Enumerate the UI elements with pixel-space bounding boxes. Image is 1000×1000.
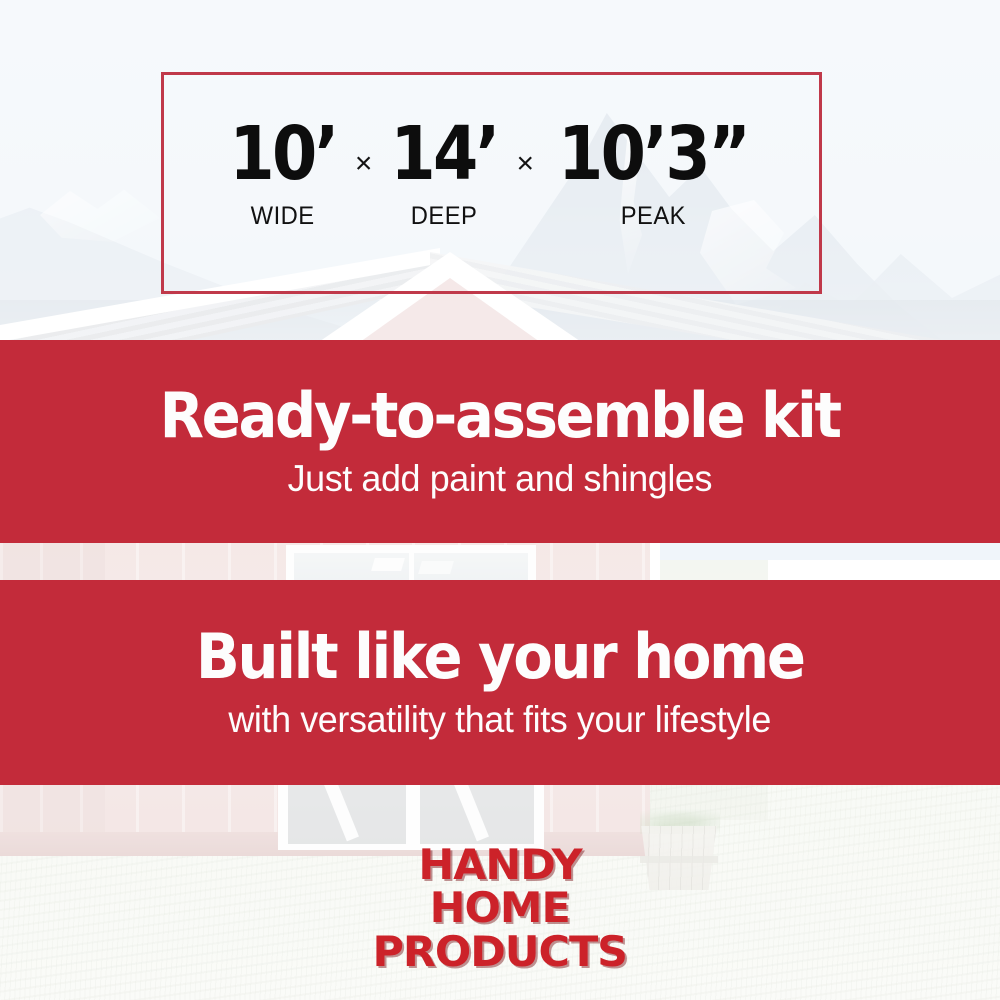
dimension-separator-icon: × <box>516 147 534 181</box>
transom-mullion <box>409 553 414 583</box>
dimension-separator-icon: × <box>355 147 373 181</box>
dimension-width-value: 10’ <box>229 119 336 190</box>
dimensions-callout-box: 10’ WIDE × 14’ DEEP × 10’3” PEAK <box>161 72 822 294</box>
dimension-peak-value: 10’3” <box>558 119 748 190</box>
dimension-depth: 14’ DEEP <box>383 119 505 231</box>
dimension-width: 10’ WIDE <box>222 119 344 231</box>
transom-pane <box>418 561 454 574</box>
dimensions-row: 10’ WIDE × 14’ DEEP × 10’3” PEAK <box>164 119 819 231</box>
dimension-depth-value: 14’ <box>391 119 498 190</box>
dimension-width-label: WIDE <box>251 202 315 231</box>
feature-banner-ready-to-assemble: Ready-to-assemble kit Just add paint and… <box>0 340 1000 543</box>
product-marketing-image: 10’ WIDE × 14’ DEEP × 10’3” PEAK Ready-t… <box>0 0 1000 1000</box>
feature-banner-built-like-your-home: Built like your home with versatility th… <box>0 580 1000 785</box>
banner-1-headline: Ready-to-assemble kit <box>160 384 840 447</box>
brand-logo: HANDY HOME PRODUCTS <box>0 845 1000 972</box>
dimension-depth-label: DEEP <box>411 202 478 231</box>
dimension-peak: 10’3” PEAK <box>545 119 761 231</box>
dimension-peak-label: PEAK <box>620 202 685 231</box>
banner-1-subhead: Just add paint and shingles <box>288 459 713 500</box>
logo-line-home: HOME <box>430 888 570 928</box>
banner-2-subhead: with versatility that fits your lifestyl… <box>229 700 772 741</box>
logo-line-products: PRODUCTS <box>373 932 628 972</box>
transom-pane <box>371 558 405 571</box>
logo-line-handy: HANDY <box>418 845 581 885</box>
banner-2-headline: Built like your home <box>196 625 804 688</box>
